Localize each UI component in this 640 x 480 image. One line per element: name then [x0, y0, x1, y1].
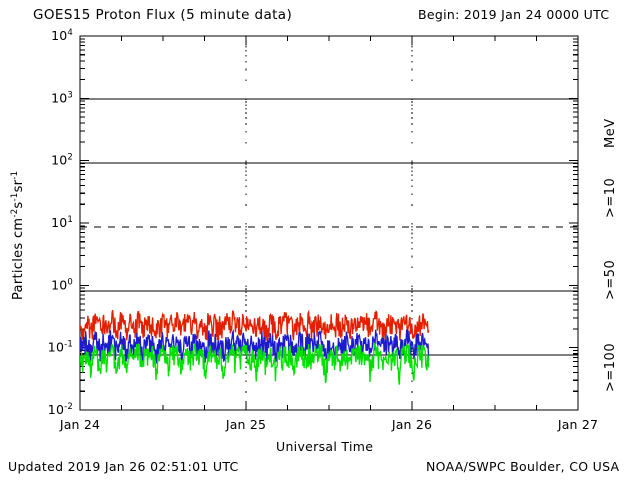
footer-updated: Updated 2019 Jan 26 02:51:01 UTC — [8, 459, 239, 474]
y-tick-label: 10-1 — [48, 340, 73, 355]
y-tick-label: 103 — [51, 90, 73, 105]
y-tick-label: 10-2 — [48, 402, 73, 417]
data-traces — [80, 310, 429, 385]
chart-svg: GOES15 Proton Flux (5 minute data) Begin… — [0, 0, 640, 480]
legend-item-10: >=10 — [603, 178, 618, 218]
chart-title: GOES15 Proton Flux (5 minute data) — [33, 7, 292, 23]
svg-text:Particles cm-2s-1sr-1: Particles cm-2s-1sr-1 — [10, 171, 26, 300]
y-tick-label: 102 — [51, 153, 73, 168]
y-tick-label: 101 — [51, 215, 73, 230]
x-tick-labels: Jan 24Jan 25Jan 26Jan 27 — [59, 417, 598, 432]
y-tick-label: 100 — [51, 277, 73, 292]
legend-item-100: >=100 — [603, 343, 618, 392]
legend-unit-label: MeV — [603, 118, 618, 148]
gridlines — [80, 99, 578, 355]
x-tick-label: Jan 27 — [557, 417, 598, 432]
legend: MeV>=10>=50>=100 — [603, 118, 618, 392]
x-tick-label: Jan 24 — [59, 417, 100, 432]
y-tick-label: 104 — [51, 28, 73, 43]
proton-flux-chart: GOES15 Proton Flux (5 minute data) Begin… — [0, 0, 640, 480]
begin-time-label: Begin: 2019 Jan 24 0000 UTC — [418, 7, 609, 22]
x-axis-title: Universal Time — [276, 439, 373, 454]
legend-item-50: >=50 — [603, 260, 618, 300]
x-tick-label: Jan 26 — [391, 417, 432, 432]
footer-source: NOAA/SWPC Boulder, CO USA — [426, 459, 620, 474]
x-tick-label: Jan 25 — [225, 417, 266, 432]
y-axis-label: Particles cm-2s-1sr-1 — [10, 171, 26, 300]
y-tick-labels: 10410310210110010-110-2 — [48, 28, 73, 417]
